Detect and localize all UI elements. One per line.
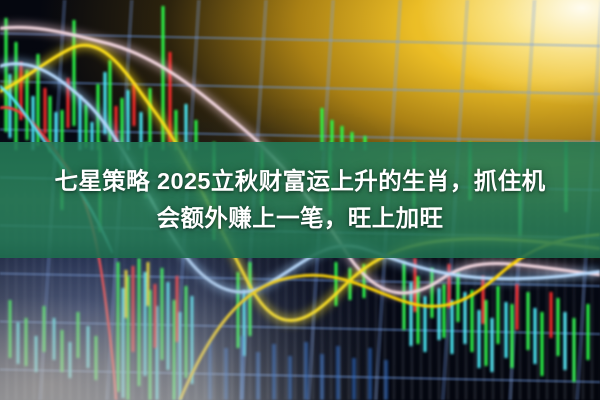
article-header-image: 七星策略 2025立秋财富运上升的生肖，抓住机 会额外赚上一笔，旺上加旺 <box>0 0 600 400</box>
caption-line-2: 会额外赚上一笔，旺上加旺 <box>157 207 444 231</box>
caption-band: 七星策略 2025立秋财富运上升的生肖，抓住机 会额外赚上一笔，旺上加旺 <box>0 142 600 258</box>
caption-line-1: 七星策略 2025立秋财富运上升的生肖，抓住机 <box>54 170 545 194</box>
